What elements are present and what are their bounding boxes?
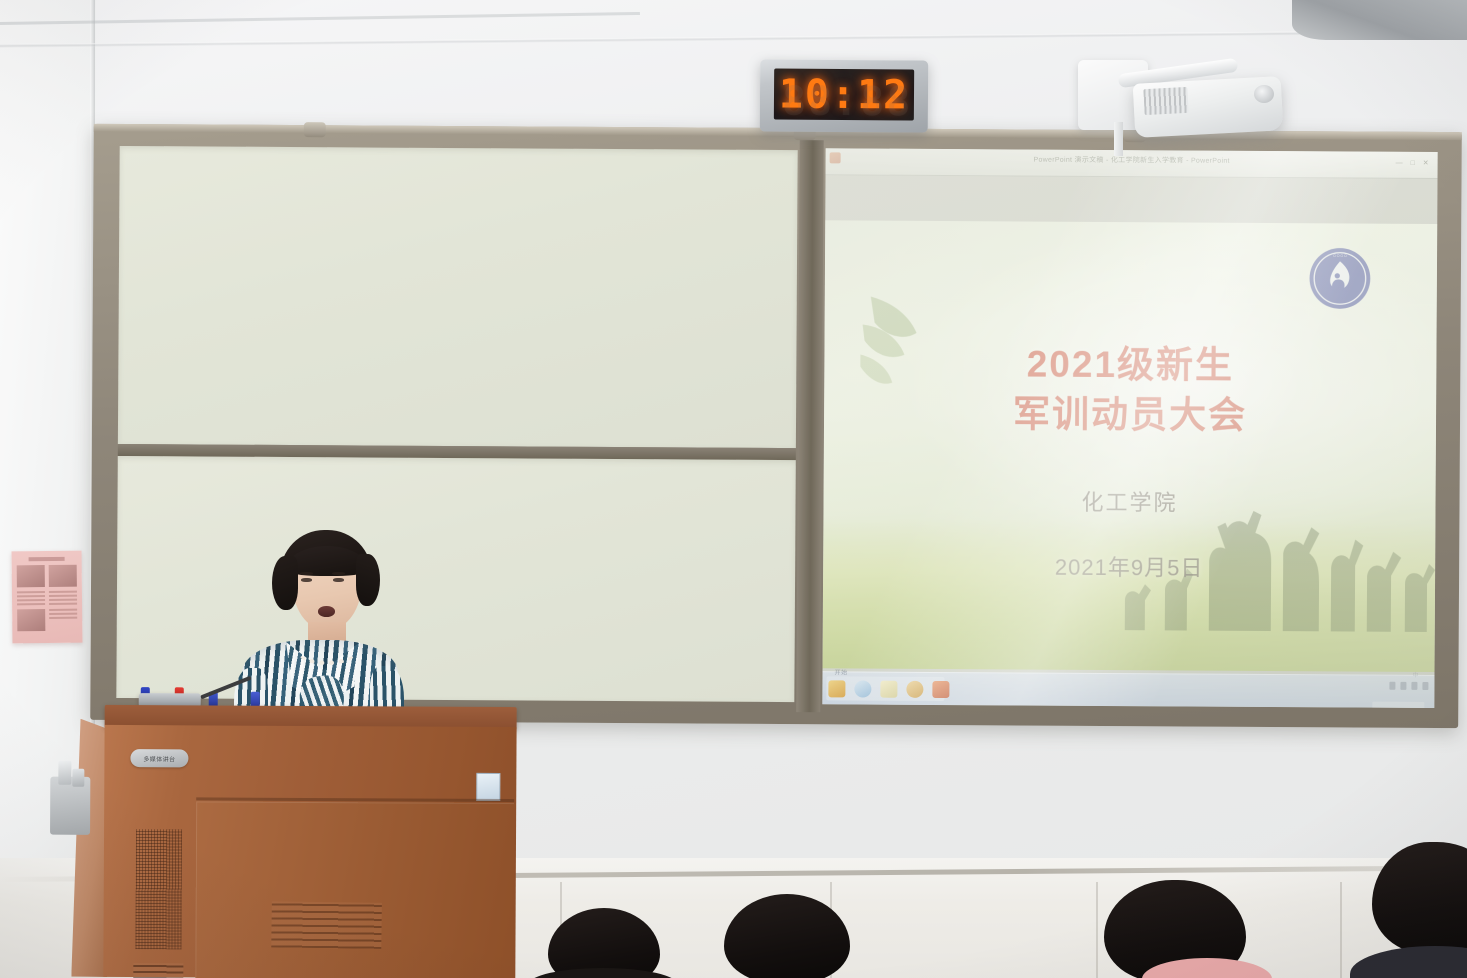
ceiling-beam bbox=[1292, 0, 1467, 40]
lectern-nameplate-text: 多媒体讲台 bbox=[130, 749, 188, 767]
poster-header-bar bbox=[29, 557, 65, 561]
powerpoint-icon[interactable] bbox=[932, 681, 949, 698]
presenter-mouth bbox=[318, 606, 335, 617]
holder-bottle-2[interactable] bbox=[72, 769, 84, 787]
lectern-vent-louvers-left bbox=[133, 963, 183, 978]
lectern-nameplate: 多媒体讲台 bbox=[130, 749, 188, 767]
tray-clock bbox=[1372, 702, 1424, 708]
classroom-scene: PowerPoint 演示文稿 - 化工学院新生入学教育 - PowerPoin… bbox=[0, 0, 1467, 978]
poster-text-block-3 bbox=[49, 609, 77, 631]
crowd-silhouette bbox=[1105, 450, 1436, 632]
slide-subtitle: 化工学院 bbox=[823, 488, 1435, 518]
tray-icon-3 bbox=[1411, 682, 1417, 690]
presenter-pearl-necklace bbox=[298, 640, 356, 665]
tray-icon-2 bbox=[1400, 682, 1406, 690]
taskbar-icon-group[interactable] bbox=[828, 680, 949, 698]
tray-icon-4 bbox=[1422, 682, 1428, 690]
window-controls[interactable]: — □ ✕ bbox=[1396, 159, 1432, 167]
projector-vent-grille bbox=[1143, 87, 1188, 115]
browser-icon[interactable] bbox=[828, 680, 845, 697]
slide-title-line2: 军训动员大会 bbox=[824, 388, 1436, 441]
poster-text-block-1 bbox=[17, 591, 45, 605]
powerpoint-icon bbox=[830, 152, 841, 163]
powerpoint-window-title: PowerPoint 演示文稿 - 化工学院新生入学教育 - PowerPoin… bbox=[1033, 155, 1229, 166]
whiteboard-panel-bottom bbox=[116, 456, 795, 702]
slide-title: 2021级新生 军训动员大会 bbox=[824, 338, 1437, 441]
poster-text-block-2 bbox=[49, 591, 77, 605]
wall-notice-poster bbox=[12, 551, 83, 644]
projector-cable-conduit bbox=[1114, 122, 1123, 156]
windows-taskbar[interactable]: 开始 中 bbox=[822, 671, 1434, 708]
digital-wall-clock: 88:88 10:12 bbox=[760, 59, 928, 132]
poster-image-3 bbox=[17, 609, 45, 631]
projection-screen: PowerPoint 演示文稿 - 化工学院新生入学教育 - PowerPoin… bbox=[822, 148, 1437, 708]
lectern-front: 多媒体讲台 bbox=[103, 725, 516, 978]
lectern-vent-louvers-center bbox=[271, 901, 382, 949]
folder-icon[interactable] bbox=[880, 681, 897, 698]
clock-display: 88:88 10:12 bbox=[774, 69, 914, 121]
tray-icon-1 bbox=[1389, 682, 1395, 690]
system-tray[interactable]: 中 bbox=[1389, 682, 1428, 690]
svg-text:○○○○: ○○○○ bbox=[1333, 253, 1347, 259]
presenter-hair-left bbox=[272, 556, 298, 610]
lectern-label-sticker bbox=[476, 773, 500, 801]
frame-clip-left bbox=[304, 122, 326, 137]
wooden-lectern: 多媒体讲台 bbox=[103, 705, 516, 978]
wall-mounted-holder bbox=[50, 777, 90, 835]
clock-ghost-segments: 88:88 bbox=[782, 79, 913, 121]
poster-content-grid bbox=[17, 565, 78, 632]
projector-lens bbox=[1254, 85, 1274, 103]
internet-explorer-icon[interactable] bbox=[854, 680, 871, 697]
holder-bottle-1[interactable] bbox=[58, 761, 71, 785]
lectern-cabinet-door[interactable] bbox=[195, 801, 514, 978]
powerpoint-title-bar: PowerPoint 演示文稿 - 化工学院新生入学教育 - PowerPoin… bbox=[826, 148, 1438, 179]
presenter-hair-right bbox=[356, 554, 380, 606]
whiteboard-divider-vertical bbox=[796, 140, 823, 712]
lectern-speaker-grille bbox=[135, 829, 182, 949]
slide-title-line1: 2021级新生 bbox=[824, 338, 1436, 391]
university-seal-logo: ○○○○ bbox=[1307, 245, 1373, 311]
poster-image-2 bbox=[49, 565, 77, 587]
slide-date: 2021年9月5日 bbox=[823, 548, 1435, 584]
start-label: 开始 bbox=[834, 667, 847, 676]
media-player-icon[interactable] bbox=[906, 681, 923, 698]
whiteboard-panel-top bbox=[118, 146, 798, 448]
slide-canvas: ○○○○ 2021级新生 bbox=[823, 220, 1438, 672]
poster-image-1 bbox=[17, 565, 45, 587]
ceiling-projector bbox=[1078, 52, 1288, 148]
tray-language-indicator[interactable]: 中 bbox=[1412, 670, 1420, 679]
